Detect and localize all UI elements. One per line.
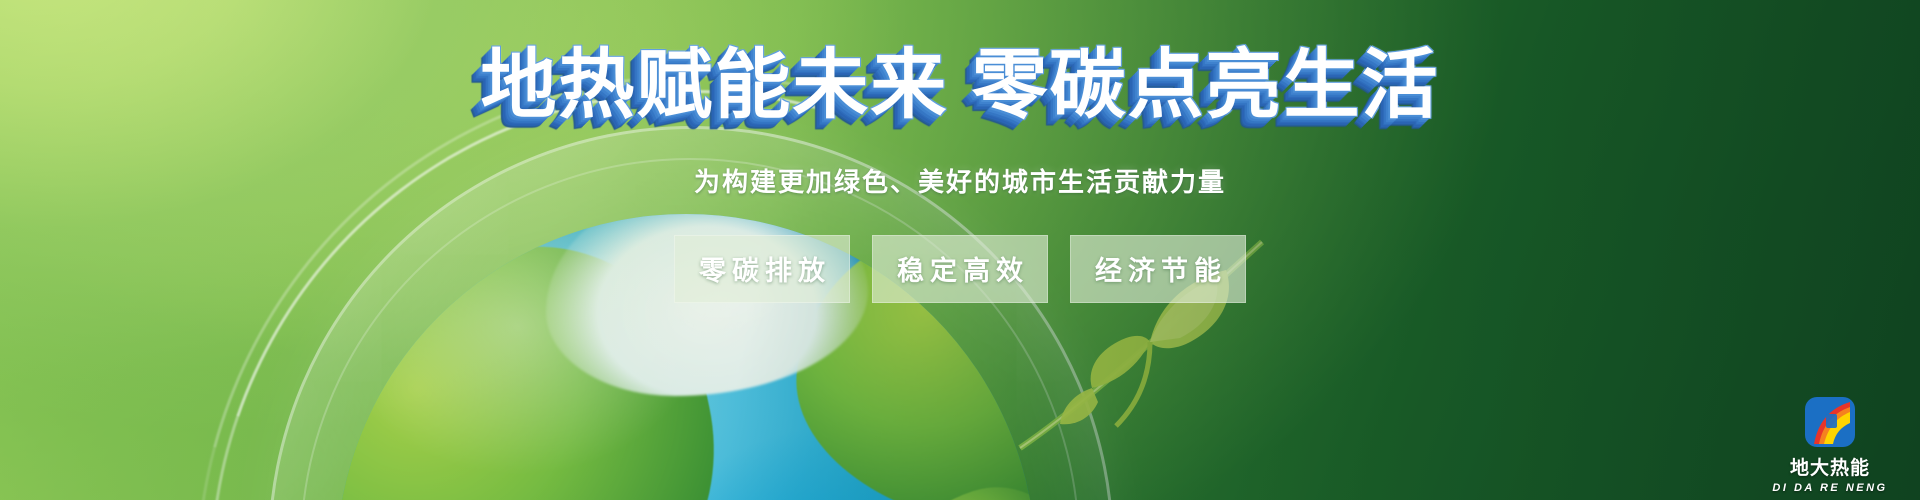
page-subtitle: 为构建更加绿色、美好的城市生活贡献力量: [694, 162, 1226, 199]
brand-logo[interactable]: 地大热能 DI DA RE NENG: [1768, 396, 1892, 494]
brand-name-cn: 地大热能: [1790, 453, 1870, 480]
company-logo-icon: [1804, 396, 1856, 448]
feature-tag-economical-saving[interactable]: 经济节能: [1070, 235, 1246, 303]
page-title: 地热赋能未来 零碳点亮生活: [480, 48, 1439, 124]
brand-name-en: DI DA RE NENG: [1772, 482, 1887, 494]
banner-content: 地热赋能未来 零碳点亮生活 为构建更加绿色、美好的城市生活贡献力量 零碳排放 稳…: [0, 0, 1920, 500]
feature-tag-zero-carbon[interactable]: 零碳排放: [674, 235, 850, 303]
feature-tag-stable-efficient[interactable]: 稳定高效: [872, 235, 1048, 303]
hero-banner: 地热赋能未来 零碳点亮生活 为构建更加绿色、美好的城市生活贡献力量 零碳排放 稳…: [0, 0, 1920, 500]
feature-tag-list: 零碳排放 稳定高效 经济节能: [674, 235, 1246, 303]
